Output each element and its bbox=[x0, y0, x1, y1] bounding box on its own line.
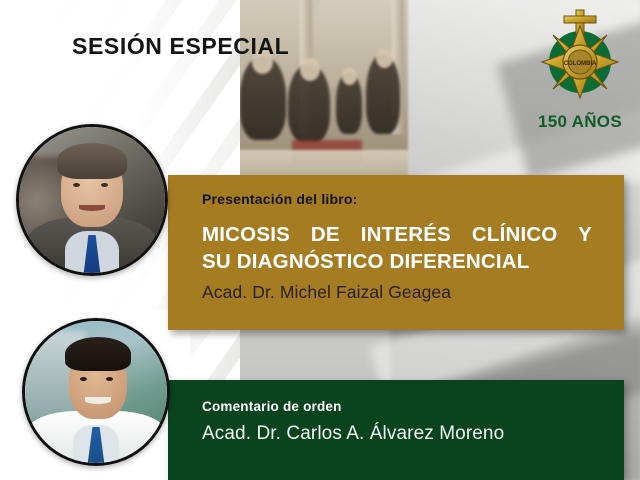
event-poster: SESIÓN ESPECIAL bbox=[0, 0, 640, 480]
page-title: SESIÓN ESPECIAL bbox=[72, 33, 289, 60]
book-presentation-panel: Presentación del libro: MICOSIS DE INTER… bbox=[168, 175, 624, 330]
logo-center-text: COLOMBIA bbox=[564, 61, 597, 67]
book-title: MICOSIS DE INTERÉS CLÍNICO Y SU DIAGNÓST… bbox=[202, 221, 592, 275]
book-title-line-1: MICOSIS DE INTERÉS CLÍNICO Y bbox=[202, 221, 592, 248]
avatar-michel-faizal-geagea bbox=[16, 124, 168, 276]
logo-years-label: 150 AÑOS bbox=[524, 112, 636, 132]
avatar-carlos-alvarez-moreno bbox=[22, 318, 170, 466]
portrait-image bbox=[25, 321, 167, 463]
commentary-speaker-name: Acad. Dr. Carlos A. Álvarez Moreno bbox=[202, 423, 504, 445]
portrait-mouth bbox=[85, 397, 111, 404]
portrait-mouth bbox=[79, 205, 105, 211]
portrait-eye bbox=[101, 183, 108, 187]
portrait-eye bbox=[73, 183, 80, 187]
portrait-hair bbox=[57, 143, 127, 179]
portrait-eye bbox=[106, 377, 113, 381]
portrait-image bbox=[19, 127, 165, 273]
book-title-line-2: SU DIAGNÓSTICO DIFERENCIAL bbox=[202, 248, 592, 275]
commentary-panel: Comentario de orden Acad. Dr. Carlos A. … bbox=[168, 380, 624, 480]
portrait-eye bbox=[80, 377, 87, 381]
book-presentation-kicker: Presentación del libro: bbox=[202, 191, 358, 207]
book-author-name: Acad. Dr. Michel Faizal Geagea bbox=[202, 282, 451, 303]
portrait-hair bbox=[65, 337, 131, 371]
academia-medal-logo: COLOMBIA 150 AÑOS bbox=[524, 4, 636, 136]
mural-figure-head bbox=[300, 58, 320, 81]
mural-figure-head bbox=[342, 68, 357, 85]
mural-figure-head bbox=[376, 48, 393, 68]
commentary-kicker: Comentario de orden bbox=[202, 399, 342, 414]
